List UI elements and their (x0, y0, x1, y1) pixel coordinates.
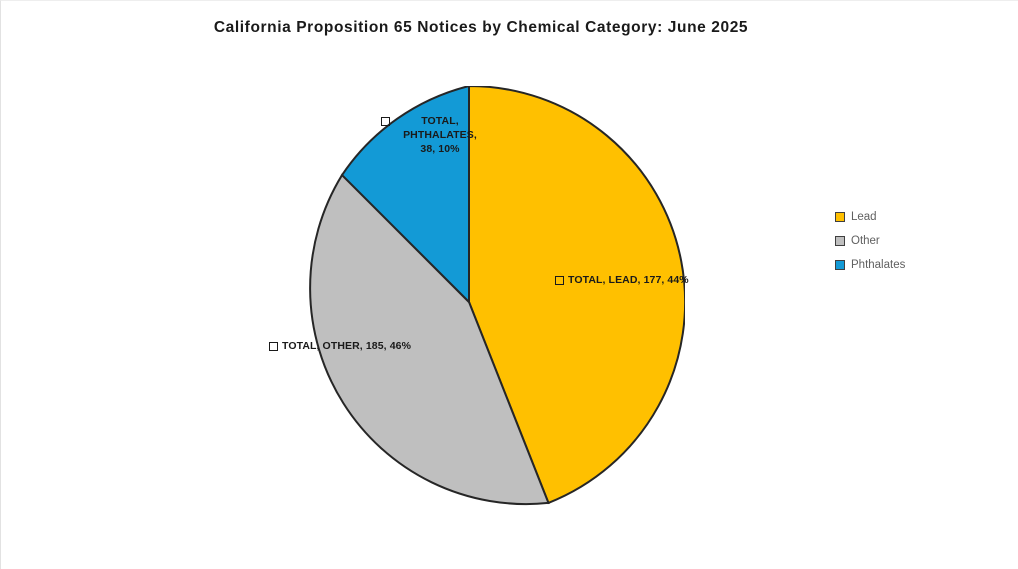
chart-container: California Proposition 65 Notices by Che… (0, 0, 1018, 569)
legend-item-phthalates[interactable]: Phthalates (835, 253, 905, 277)
data-label-other: TOTAL, OTHER, 185, 46% (269, 340, 411, 354)
legend-label-other: Other (851, 235, 880, 247)
data-label-phthalates-line2: PHTHALATES, (381, 129, 485, 143)
open-square-marker-icon (555, 276, 564, 285)
data-label-lead: TOTAL, LEAD, 177, 44% (555, 274, 689, 288)
data-label-phthalates-line3: 38, 10% (381, 143, 485, 157)
data-label-other-text: TOTAL, OTHER, 185, 46% (282, 340, 411, 352)
open-square-marker-icon (269, 342, 278, 351)
legend-item-lead[interactable]: Lead (835, 205, 905, 229)
legend-swatch-phthalates-icon (835, 260, 845, 270)
chart-title: California Proposition 65 Notices by Che… (1, 19, 961, 37)
data-label-phthalates-line1: TOTAL, (381, 115, 485, 129)
legend-label-lead: Lead (851, 211, 877, 223)
legend-label-phthalates: Phthalates (851, 259, 905, 271)
legend-swatch-other-icon (835, 236, 845, 246)
legend-item-other[interactable]: Other (835, 229, 905, 253)
legend-swatch-lead-icon (835, 212, 845, 222)
open-square-marker-icon (381, 117, 390, 126)
data-label-phthalates: TOTAL, PHTHALATES, 38, 10% (381, 115, 485, 157)
data-label-lead-text: TOTAL, LEAD, 177, 44% (568, 274, 689, 286)
chart-legend: Lead Other Phthalates (835, 205, 905, 277)
